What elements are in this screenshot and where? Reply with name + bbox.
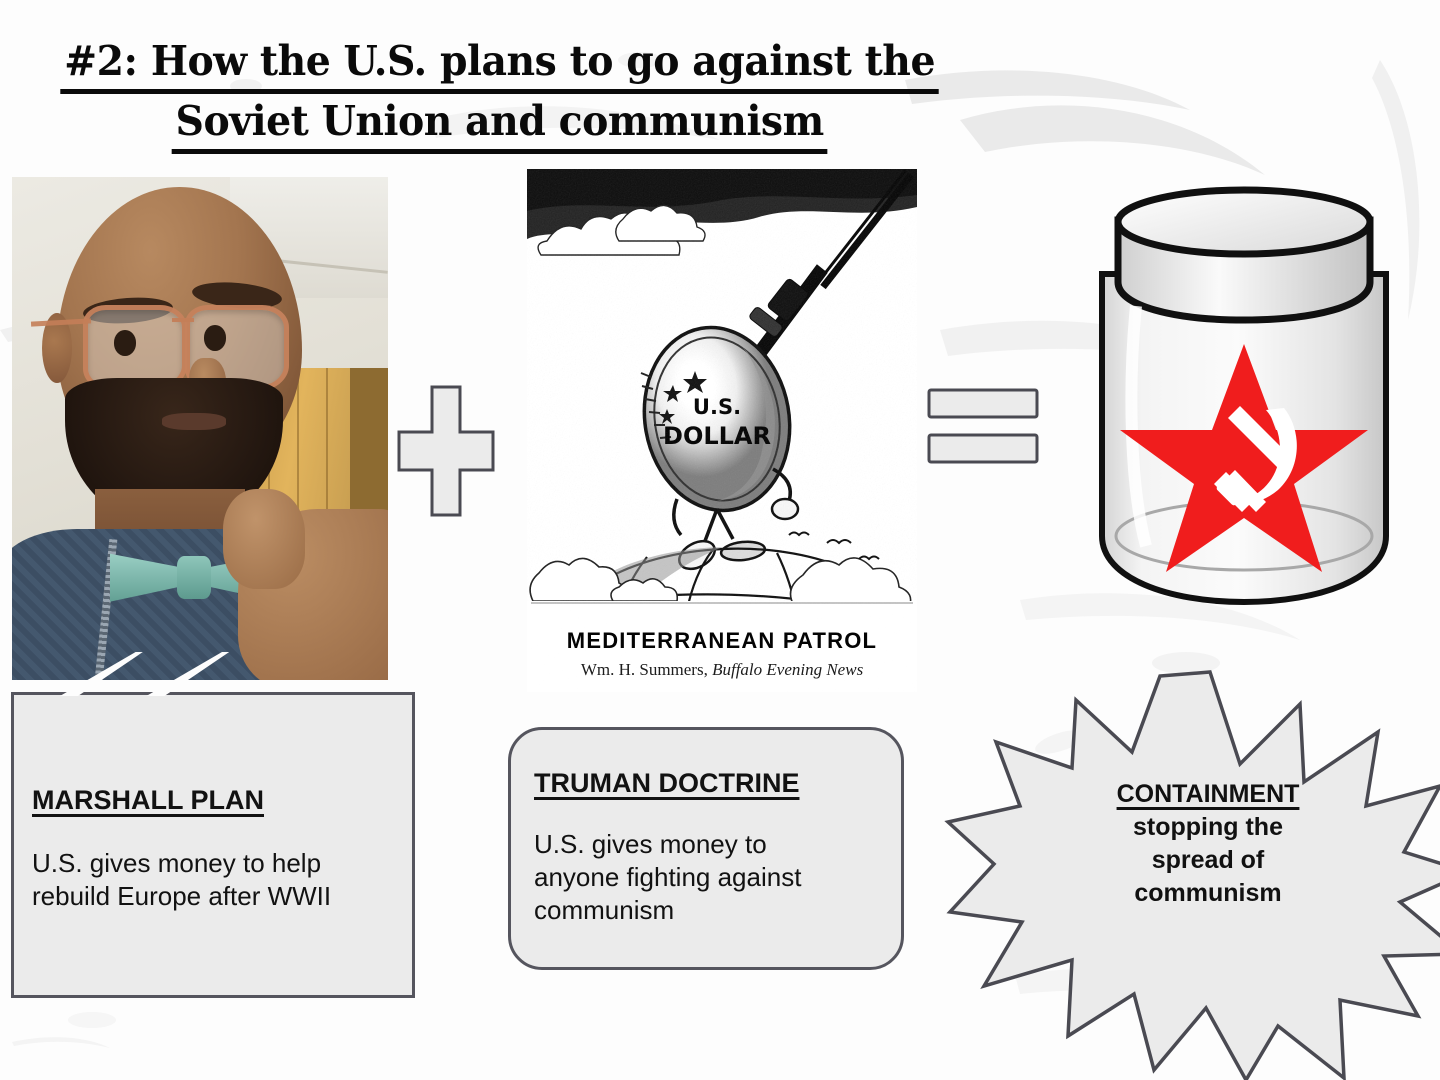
- containment-jar: [1088, 186, 1400, 616]
- containment-text: CONTAINMENT stopping the spread of commu…: [1068, 778, 1348, 910]
- cartoon-credit-author: Wm. H. Summers,: [581, 660, 708, 679]
- photo-eye-right: [204, 325, 227, 350]
- teacher-photo: [12, 177, 388, 680]
- slide-title-line-1: #2: How the U.S. plans to go against the: [61, 34, 940, 94]
- slide-canvas: #2: How the U.S. plans to go against the…: [0, 0, 1440, 1080]
- slide-title: #2: How the U.S. plans to go against the…: [0, 34, 1000, 154]
- cartoon-credit-source: Buffalo Evening News: [712, 660, 863, 679]
- photo-eyeglass-bridge: [172, 318, 195, 322]
- marshall-plan-body: U.S. gives money to help rebuild Europe …: [32, 847, 392, 913]
- slide-title-line-2: Soviet Union and communism: [172, 94, 828, 154]
- containment-line-1: stopping the: [1133, 813, 1283, 841]
- cartoon-caption: MEDITERRANEAN PATROL: [527, 628, 917, 654]
- equals-sign-icon: [926, 387, 1040, 465]
- containment-burst: CONTAINMENT stopping the spread of commu…: [948, 686, 1440, 1080]
- cartoon-credit: Wm. H. Summers, Buffalo Evening News: [527, 660, 917, 680]
- photo-eye-left: [114, 330, 137, 355]
- photo-hand: [223, 489, 306, 590]
- marshall-plan-title: MARSHALL PLAN: [32, 785, 264, 816]
- truman-doctrine-title: TRUMAN DOCTRINE: [534, 768, 799, 799]
- political-cartoon: U.S. DOLLAR: [527, 169, 917, 692]
- truman-doctrine-box: TRUMAN DOCTRINE U.S. gives money to anyo…: [508, 727, 904, 970]
- truman-doctrine-body: U.S. gives money to anyone fighting agai…: [534, 828, 854, 927]
- photo-mouth: [162, 413, 226, 429]
- marshall-plan-box: MARSHALL PLAN U.S. gives money to help r…: [11, 692, 415, 998]
- containment-line-2: spread of: [1152, 846, 1265, 874]
- containment-line-3: communism: [1134, 879, 1281, 907]
- containment-title: CONTAINMENT: [1117, 778, 1300, 811]
- plus-sign-icon: [396, 384, 496, 518]
